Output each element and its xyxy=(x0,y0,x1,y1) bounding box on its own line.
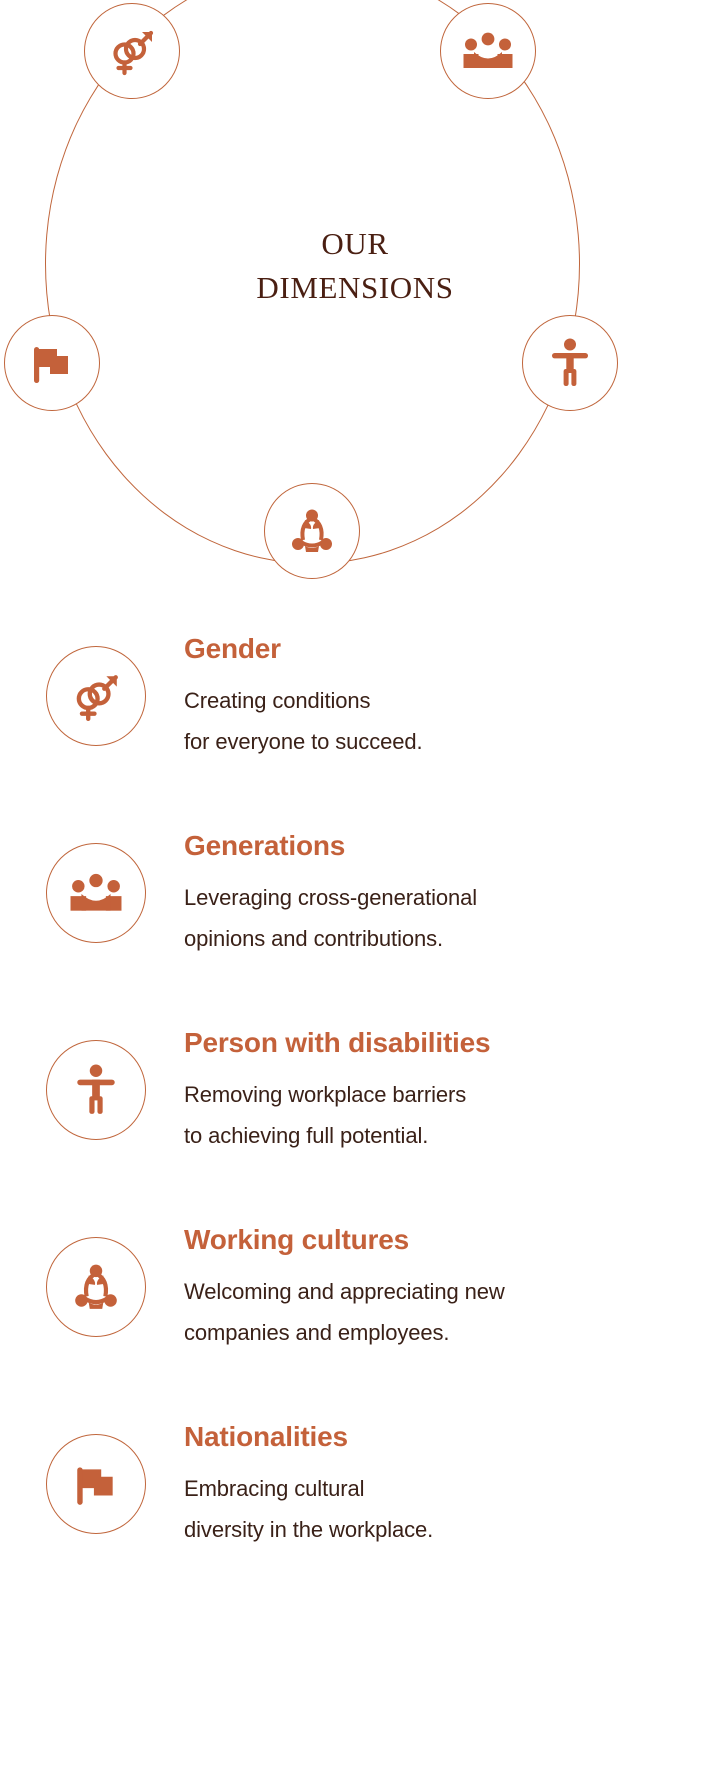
list-item[interactable]: Nationalities Embracing cultural diversi… xyxy=(0,1420,710,1617)
generations-icon xyxy=(463,32,513,70)
dimension-title: Nationalities xyxy=(184,1420,433,1454)
dimensions-circle-diagram: OUR DIMENSIONS xyxy=(0,0,710,600)
generations-icon xyxy=(70,873,122,913)
dimension-title: Gender xyxy=(184,632,423,666)
dimension-text: Working cultures Welcoming and appreciat… xyxy=(184,1223,505,1353)
gender-icon xyxy=(106,25,158,77)
our-dimensions-infographic: OUR DIMENSIONS xyxy=(0,0,710,1784)
list-item[interactable]: Working cultures Welcoming and appreciat… xyxy=(0,1223,710,1420)
dimension-badge-nationalities xyxy=(46,1434,146,1534)
dimension-text: Person with disabilities Removing workpl… xyxy=(184,1026,490,1156)
diagram-node-working-cultures[interactable] xyxy=(264,483,360,579)
dimensions-list: Gender Creating conditions for everyone … xyxy=(0,632,710,1617)
list-item[interactable]: Gender Creating conditions for everyone … xyxy=(0,632,710,829)
dimension-title: Working cultures xyxy=(184,1223,505,1257)
dimension-badge-working-cultures xyxy=(46,1237,146,1337)
working-cultures-icon xyxy=(287,506,337,556)
page-title: OUR DIMENSIONS xyxy=(0,222,710,310)
working-cultures-icon xyxy=(70,1261,122,1313)
list-item[interactable]: Person with disabilities Removing workpl… xyxy=(0,1026,710,1223)
dimension-description: Removing workplace barriers to achieving… xyxy=(184,1074,490,1156)
diagram-node-nationalities[interactable] xyxy=(4,315,100,411)
dimension-description: Embracing cultural diversity in the work… xyxy=(184,1468,433,1550)
dimension-description: Creating conditions for everyone to succ… xyxy=(184,680,423,762)
accessibility-icon xyxy=(550,338,590,388)
diagram-node-disability[interactable] xyxy=(522,315,618,411)
dimension-description: Leveraging cross-generational opinions a… xyxy=(184,877,477,959)
dimension-title: Generations xyxy=(184,829,477,863)
diagram-node-generations[interactable] xyxy=(440,3,536,99)
gender-icon xyxy=(69,669,123,723)
dimension-title: Person with disabilities xyxy=(184,1026,490,1060)
accessibility-icon xyxy=(75,1064,117,1116)
dimension-badge-gender xyxy=(46,646,146,746)
flag-icon xyxy=(28,339,76,387)
dimension-description: Welcoming and appreciating new companies… xyxy=(184,1271,505,1353)
dimension-text: Gender Creating conditions for everyone … xyxy=(184,632,423,762)
diagram-node-gender[interactable] xyxy=(84,3,180,99)
dimension-badge-generations xyxy=(46,843,146,943)
dimension-text: Generations Leveraging cross-generationa… xyxy=(184,829,477,959)
dimension-badge-disability xyxy=(46,1040,146,1140)
flag-icon xyxy=(71,1459,121,1509)
dimension-text: Nationalities Embracing cultural diversi… xyxy=(184,1420,433,1550)
list-item[interactable]: Generations Leveraging cross-generationa… xyxy=(0,829,710,1026)
